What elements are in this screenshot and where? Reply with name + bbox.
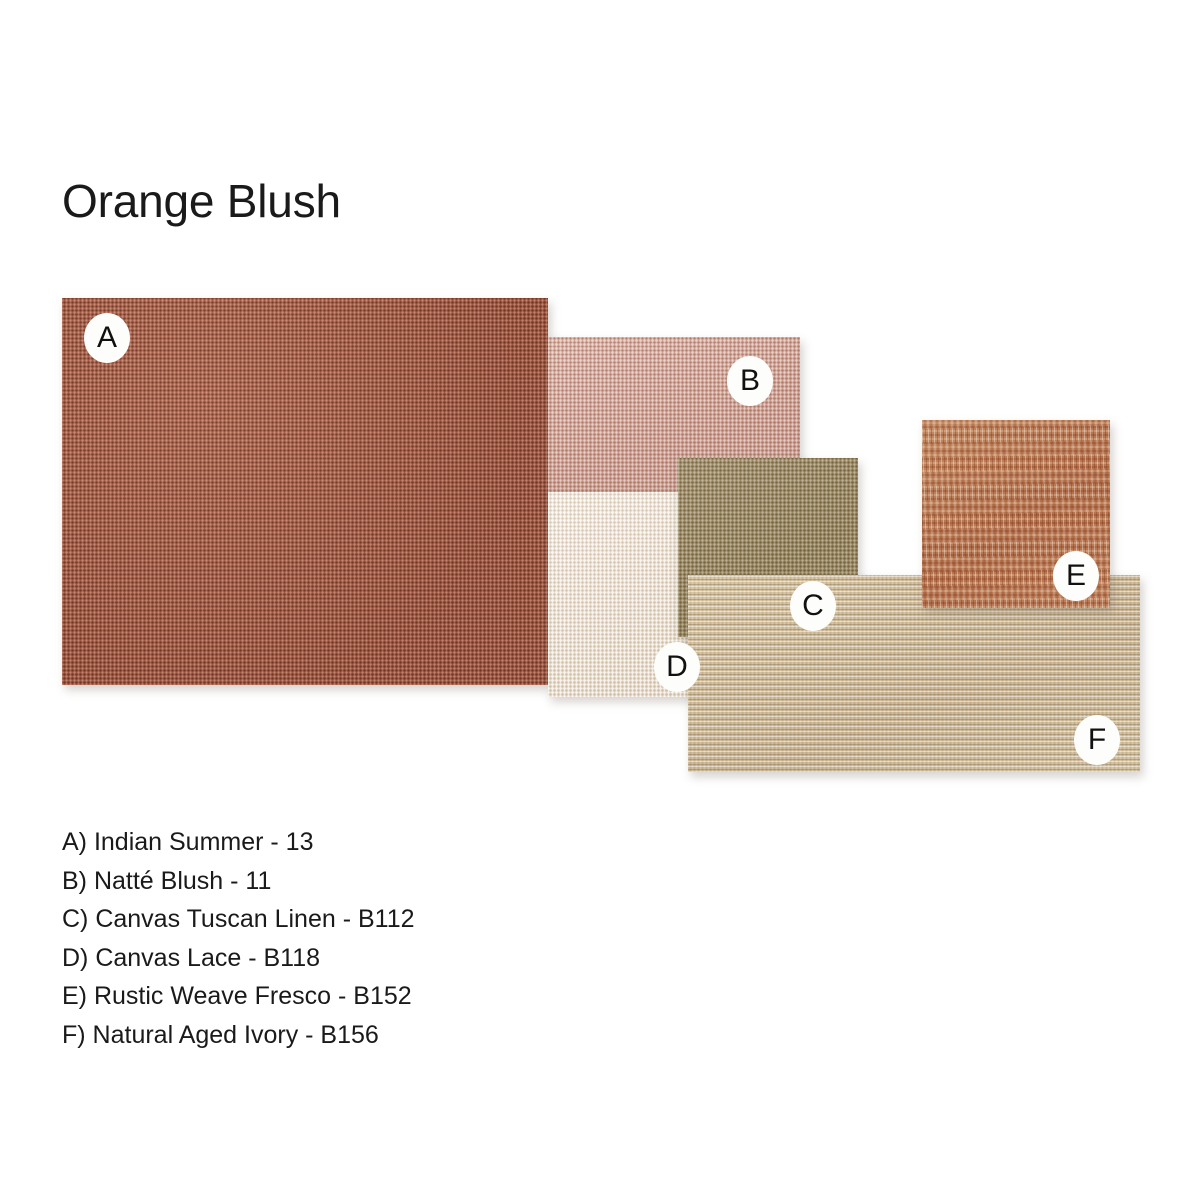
swatch-badge-d: D	[654, 642, 700, 692]
swatch-badge-e: E	[1053, 551, 1099, 601]
legend-item: F) Natural Aged Ivory - B156	[62, 1016, 415, 1055]
swatch-collage: A B C D E F	[0, 0, 1200, 800]
legend-item: D) Canvas Lace - B118	[62, 939, 415, 978]
swatch-badge-b: B	[727, 356, 773, 406]
legend-item: B) Natté Blush - 11	[62, 862, 415, 901]
fabric-palette-board: Orange Blush A B C D E F A) Indian Summe…	[0, 0, 1200, 1200]
swatch-legend: A) Indian Summer - 13 B) Natté Blush - 1…	[62, 823, 415, 1055]
fabric-swatch-a[interactable]	[62, 298, 548, 685]
swatch-badge-c: C	[790, 581, 836, 631]
legend-item: A) Indian Summer - 13	[62, 823, 415, 862]
legend-item: C) Canvas Tuscan Linen - B112	[62, 900, 415, 939]
swatch-badge-a: A	[84, 313, 130, 363]
legend-item: E) Rustic Weave Fresco - B152	[62, 977, 415, 1016]
swatch-badge-f: F	[1074, 715, 1120, 765]
